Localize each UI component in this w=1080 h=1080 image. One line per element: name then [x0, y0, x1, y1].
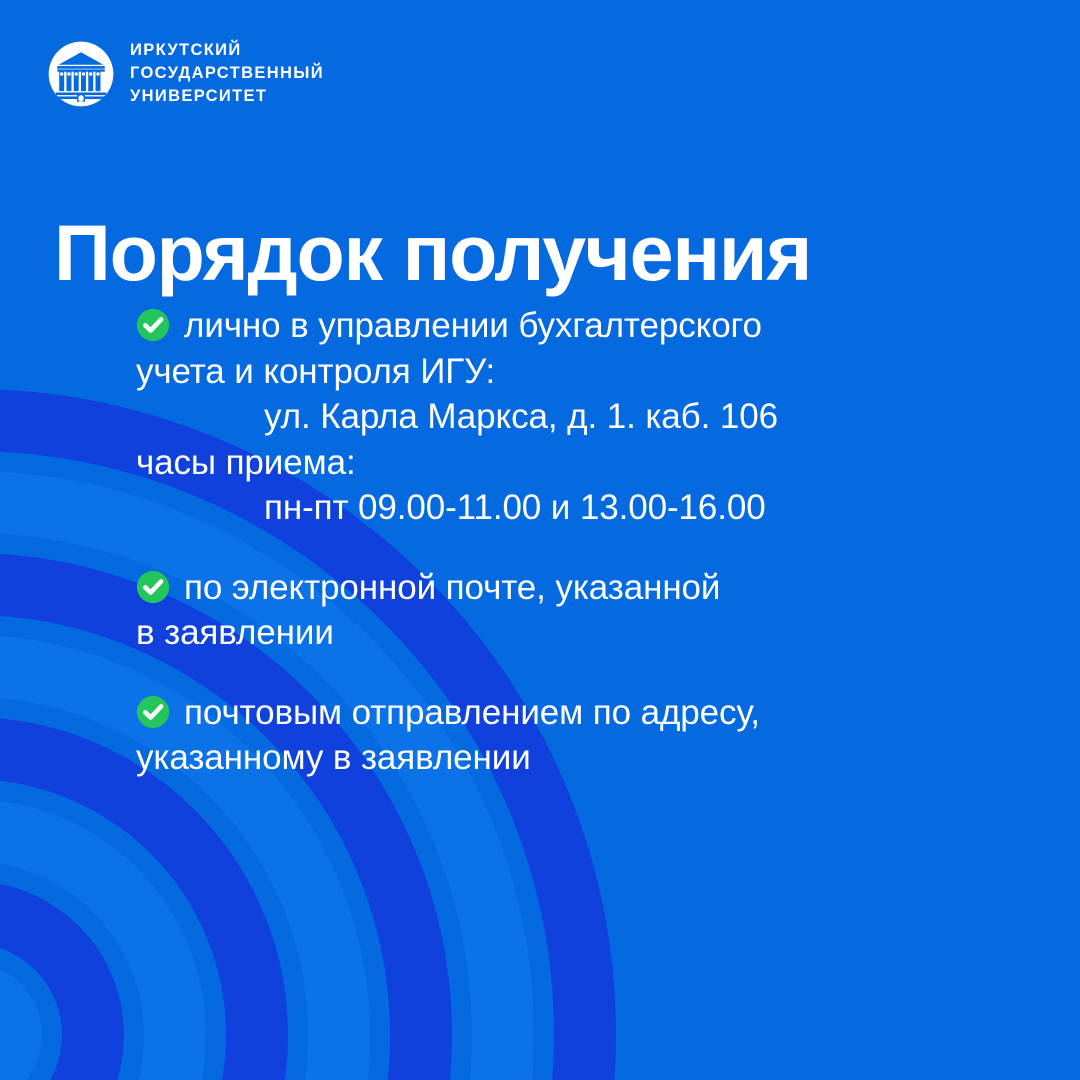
bullet-line: по электронной почте, указанной	[136, 565, 1036, 611]
bullet-line: учета и контроля ИГУ:	[136, 349, 1036, 395]
bullet-text: по электронной почте, указанной	[184, 568, 720, 607]
bullet-line-address: ул. Карла Маркса, д. 1. каб. 106	[136, 394, 1036, 440]
bullet-text: почтовым отправлением по адресу,	[184, 693, 760, 732]
list-item: лично в управлении бухгалтерского учета …	[136, 303, 1036, 531]
check-circle-icon	[136, 570, 170, 604]
bullet-text: лично в управлении бухгалтерского	[184, 306, 762, 345]
check-circle-icon	[136, 308, 170, 342]
bullet-line: лично в управлении бухгалтерского	[136, 303, 1036, 349]
bullet-line-hours-value: пн-пт 09.00-11.00 и 13.00-16.00	[136, 485, 1036, 531]
igu-building-emblem-icon	[48, 41, 114, 107]
logo-wordmark: ИРКУТСКИЙ ГОСУДАРСТВЕННЫЙ УНИВЕРСИТЕТ	[130, 40, 324, 107]
bullet-list: лично в управлении бухгалтерского учета …	[136, 303, 1036, 781]
bullet-line: почтовым отправлением по адресу,	[136, 690, 1036, 736]
check-circle-icon	[136, 695, 170, 729]
logo-line-1: ИРКУТСКИЙ	[130, 40, 324, 61]
page-title: Порядок получения	[54, 211, 811, 295]
bullet-line-hours-label: часы приема:	[136, 440, 1036, 486]
poster-canvas: ИРКУТСКИЙ ГОСУДАРСТВЕННЫЙ УНИВЕРСИТЕТ По…	[0, 0, 1080, 1080]
university-logo: ИРКУТСКИЙ ГОСУДАРСТВЕННЫЙ УНИВЕРСИТЕТ	[48, 40, 324, 107]
bullet-line: в заявлении	[136, 610, 1036, 656]
list-item: почтовым отправлением по адресу, указанн…	[136, 690, 1036, 781]
logo-line-2: ГОСУДАРСТВЕННЫЙ	[130, 63, 324, 84]
logo-line-3: УНИВЕРСИТЕТ	[130, 86, 324, 107]
bullet-line: указанному в заявлении	[136, 735, 1036, 781]
list-item: по электронной почте, указанной в заявле…	[136, 565, 1036, 656]
